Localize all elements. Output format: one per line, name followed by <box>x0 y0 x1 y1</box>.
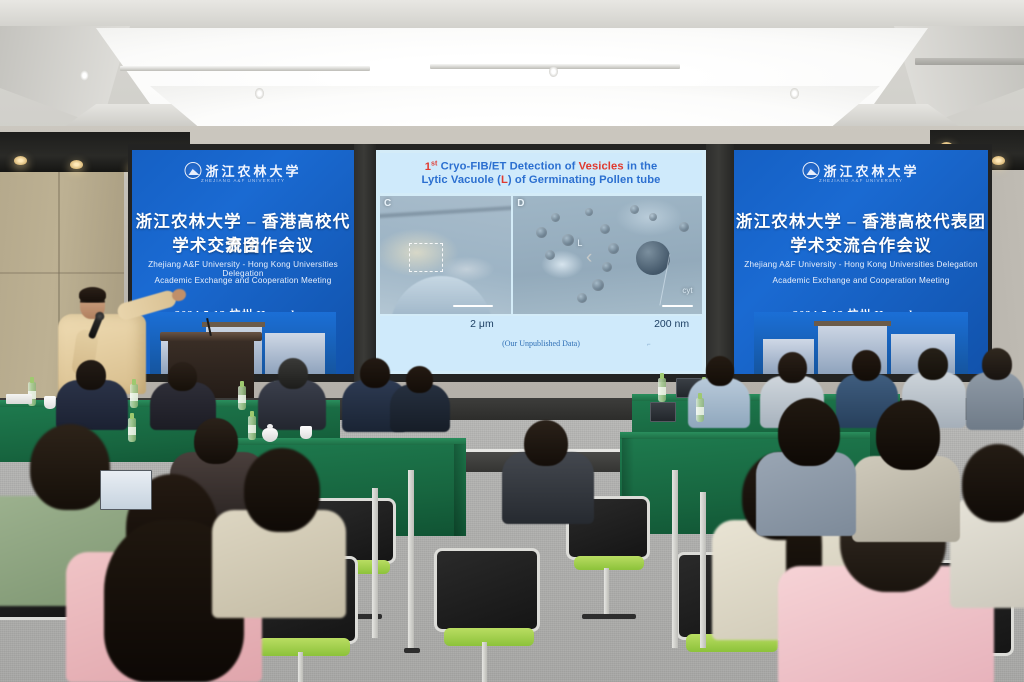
paper-cup <box>44 396 56 409</box>
office-chair-back[interactable] <box>434 548 540 632</box>
large-vesicle <box>636 241 670 275</box>
slide-footer: (Our Unpublished Data) ⌐ <box>380 336 702 371</box>
ceiling-spotlight <box>80 70 89 81</box>
slide-title-line-2: Lytic Vacuole (L) of Germinating Pollen … <box>422 174 661 186</box>
micrograph-panels: C <box>380 196 702 314</box>
slide-header: 1st Cryo-FIB/ET Detection of Vesicles in… <box>380 153 702 193</box>
panel-d-label: D <box>517 198 524 209</box>
conference-hall-photo: 浙江农林大学 ZHEJIANG A&F UNIVERSITY 浙江农林大学 – … <box>0 0 1024 682</box>
display-divider-left <box>354 144 376 382</box>
office-chair-seat[interactable] <box>574 556 644 570</box>
water-bottle <box>658 378 666 402</box>
support-pole <box>700 492 706 648</box>
paper-cup <box>300 426 312 439</box>
banner-title-cn-1: 浙江农林大学 – 香港高校代表团 <box>734 208 988 232</box>
banner-title-cn-2: 学术交流合作会议 <box>132 232 354 256</box>
support-pole <box>408 470 414 650</box>
open-document <box>100 470 152 510</box>
water-bottle <box>130 384 138 408</box>
soffit-lamp <box>992 156 1005 165</box>
water-bottle <box>248 416 256 440</box>
scale-bar-d <box>662 305 692 308</box>
logo-en-text: ZHEJIANG A&F UNIVERSITY <box>819 178 903 183</box>
water-bottle <box>128 418 136 442</box>
micrograph-panel-c: C <box>380 196 511 314</box>
lumen-label: L <box>577 238 582 248</box>
banner-title-cn-2: 学术交流合作会议 <box>734 232 988 256</box>
laptop <box>650 402 676 422</box>
scale-caption-row: 2 μm 200 nm <box>380 316 702 336</box>
office-chair-seat[interactable] <box>258 638 350 656</box>
water-bottle <box>696 398 704 422</box>
university-crest-icon <box>802 162 819 179</box>
banner-slide: 浙江农林大学 ZHEJIANG A&F UNIVERSITY 浙江农林大学 – … <box>734 150 988 374</box>
chair-post <box>604 568 609 616</box>
university-crest-icon <box>184 162 201 179</box>
name-plate <box>6 394 32 404</box>
support-pole <box>372 488 378 638</box>
ceiling-vent <box>915 58 1024 65</box>
ceiling-spotlight <box>255 88 264 99</box>
banner-subtitle-en-2: Academic Exchange and Cooperation Meetin… <box>132 276 354 285</box>
screen-center-presentation[interactable]: 1st Cryo-FIB/ET Detection of Vesicles in… <box>376 150 706 374</box>
banner-subtitle-en-1: Zhejiang A&F University - Hong Kong Univ… <box>734 260 988 269</box>
speaker-hair <box>79 287 106 302</box>
ceiling-spotlight <box>790 88 799 99</box>
slide-footer-credit: (Our Unpublished Data) <box>502 339 580 348</box>
scale-caption-c: 2 μm <box>470 318 494 330</box>
ceiling-strip <box>120 66 370 71</box>
slide-footer-mark: ⌐ <box>647 342 651 348</box>
display-wall: 浙江农林大学 ZHEJIANG A&F UNIVERSITY 浙江农林大学 – … <box>128 144 992 382</box>
office-chair-seat[interactable] <box>444 628 534 646</box>
wall-seam <box>0 272 124 274</box>
banner-subtitle-en-2: Academic Exchange and Cooperation Meetin… <box>734 276 988 285</box>
pole-foot <box>404 648 420 653</box>
ceiling-spotlight <box>549 66 558 77</box>
display-divider-right <box>706 144 734 382</box>
chair-post <box>298 652 303 682</box>
chevron-left-icon[interactable]: ‹ <box>586 248 592 267</box>
logo-en-text: ZHEJIANG A&F UNIVERSITY <box>201 178 285 183</box>
slide-title-line-1: 1st Cryo-FIB/ET Detection of Vesicles in… <box>425 160 658 173</box>
scale-caption-d: 200 nm <box>654 318 689 330</box>
roi-box <box>409 243 443 271</box>
table-drape <box>454 444 466 536</box>
speaker-glasses <box>82 301 103 305</box>
panel-c-label: C <box>384 198 391 209</box>
scale-bar-c <box>453 305 492 308</box>
support-pole <box>672 470 678 648</box>
chair-post <box>482 642 487 682</box>
soffit-lamp <box>14 156 27 165</box>
water-bottle <box>238 386 246 410</box>
screen-right-banner[interactable]: 浙江农林大学 ZHEJIANG A&F UNIVERSITY 浙江农林大学 – … <box>734 150 988 374</box>
cytoplasm-label: cyt <box>682 286 692 295</box>
presentation-slide: 1st Cryo-FIB/ET Detection of Vesicles in… <box>376 150 706 374</box>
chair-base <box>582 614 636 619</box>
soffit-lamp <box>70 160 83 169</box>
micrograph-panel-d: D L cyt <box>513 196 702 314</box>
ceiling-soffit-outer <box>0 0 1024 28</box>
